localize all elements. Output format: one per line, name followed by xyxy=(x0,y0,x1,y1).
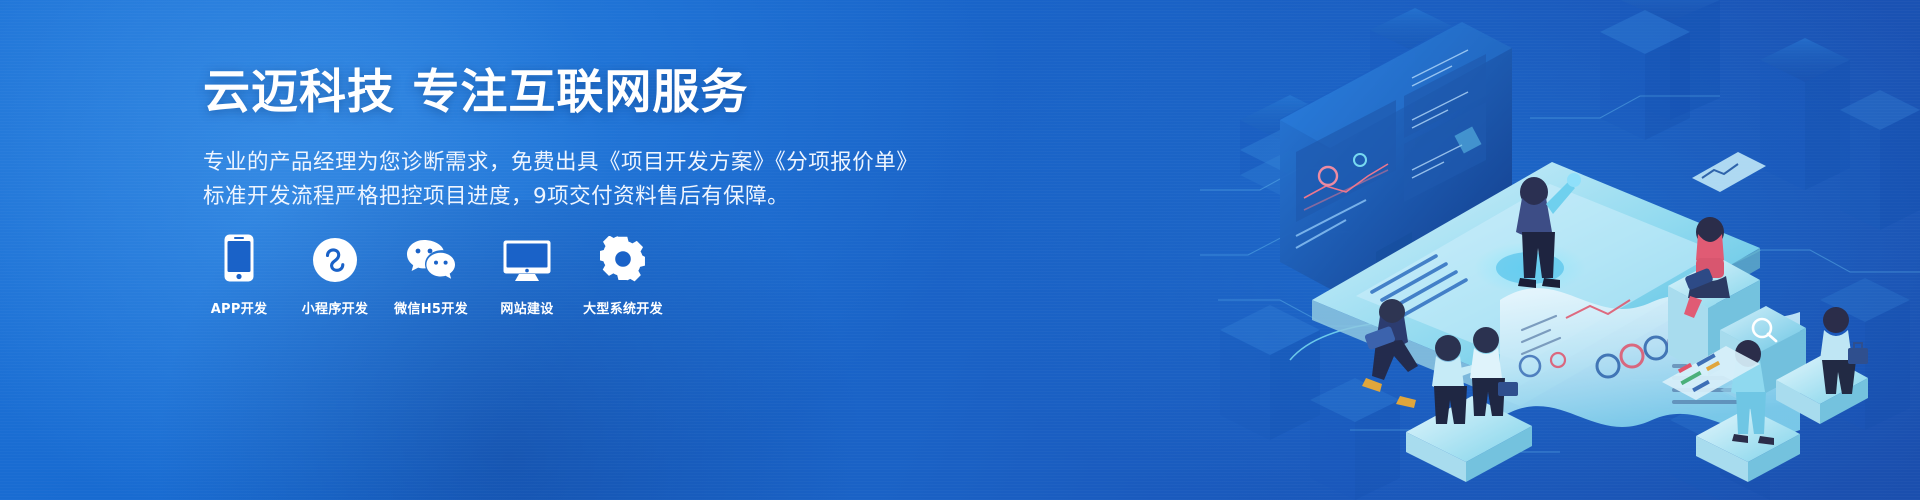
page-title: 云迈科技 专注互联网服务 xyxy=(203,62,903,124)
hero-banner: 云迈科技 专注互联网服务 专业的产品经理为您诊断需求，免费出具《项目开发方案》《… xyxy=(0,0,1920,500)
subtitle-line-1: 专业的产品经理为您诊断需求，免费出具《项目开发方案》《分项报价单》 xyxy=(203,146,903,180)
mini-program-icon xyxy=(313,230,357,282)
gear-icon xyxy=(600,230,646,282)
service-item-app[interactable]: APP开发 xyxy=(203,230,275,317)
service-label: 大型系统开发 xyxy=(583,298,663,317)
banner-copy: 云迈科技 专注互联网服务 专业的产品经理为您诊断需求，免费出具《项目开发方案》《… xyxy=(203,62,903,214)
wechat-icon xyxy=(405,230,457,282)
floating-chart-card xyxy=(1692,152,1766,192)
service-label: APP开发 xyxy=(211,298,268,317)
isometric-tech-illustration xyxy=(1200,0,1920,500)
service-label: 网站建设 xyxy=(500,298,553,317)
monitor-icon xyxy=(503,230,551,282)
service-label: 小程序开发 xyxy=(302,298,369,317)
service-item-large-system[interactable]: 大型系统开发 xyxy=(587,230,659,317)
mobile-phone-icon xyxy=(224,230,254,282)
service-item-wechat-h5[interactable]: 微信H5开发 xyxy=(395,230,467,317)
service-label: 微信H5开发 xyxy=(394,298,468,317)
service-list: APP开发 小程序开发 微信 xyxy=(203,230,659,317)
banner-subtitle: 专业的产品经理为您诊断需求，免费出具《项目开发方案》《分项报价单》 标准开发流程… xyxy=(203,146,903,214)
service-item-website[interactable]: 网站建设 xyxy=(491,230,563,317)
subtitle-line-2: 标准开发流程严格把控项目进度，9项交付资料售后有保障。 xyxy=(203,180,903,214)
service-item-mini-program[interactable]: 小程序开发 xyxy=(299,230,371,317)
